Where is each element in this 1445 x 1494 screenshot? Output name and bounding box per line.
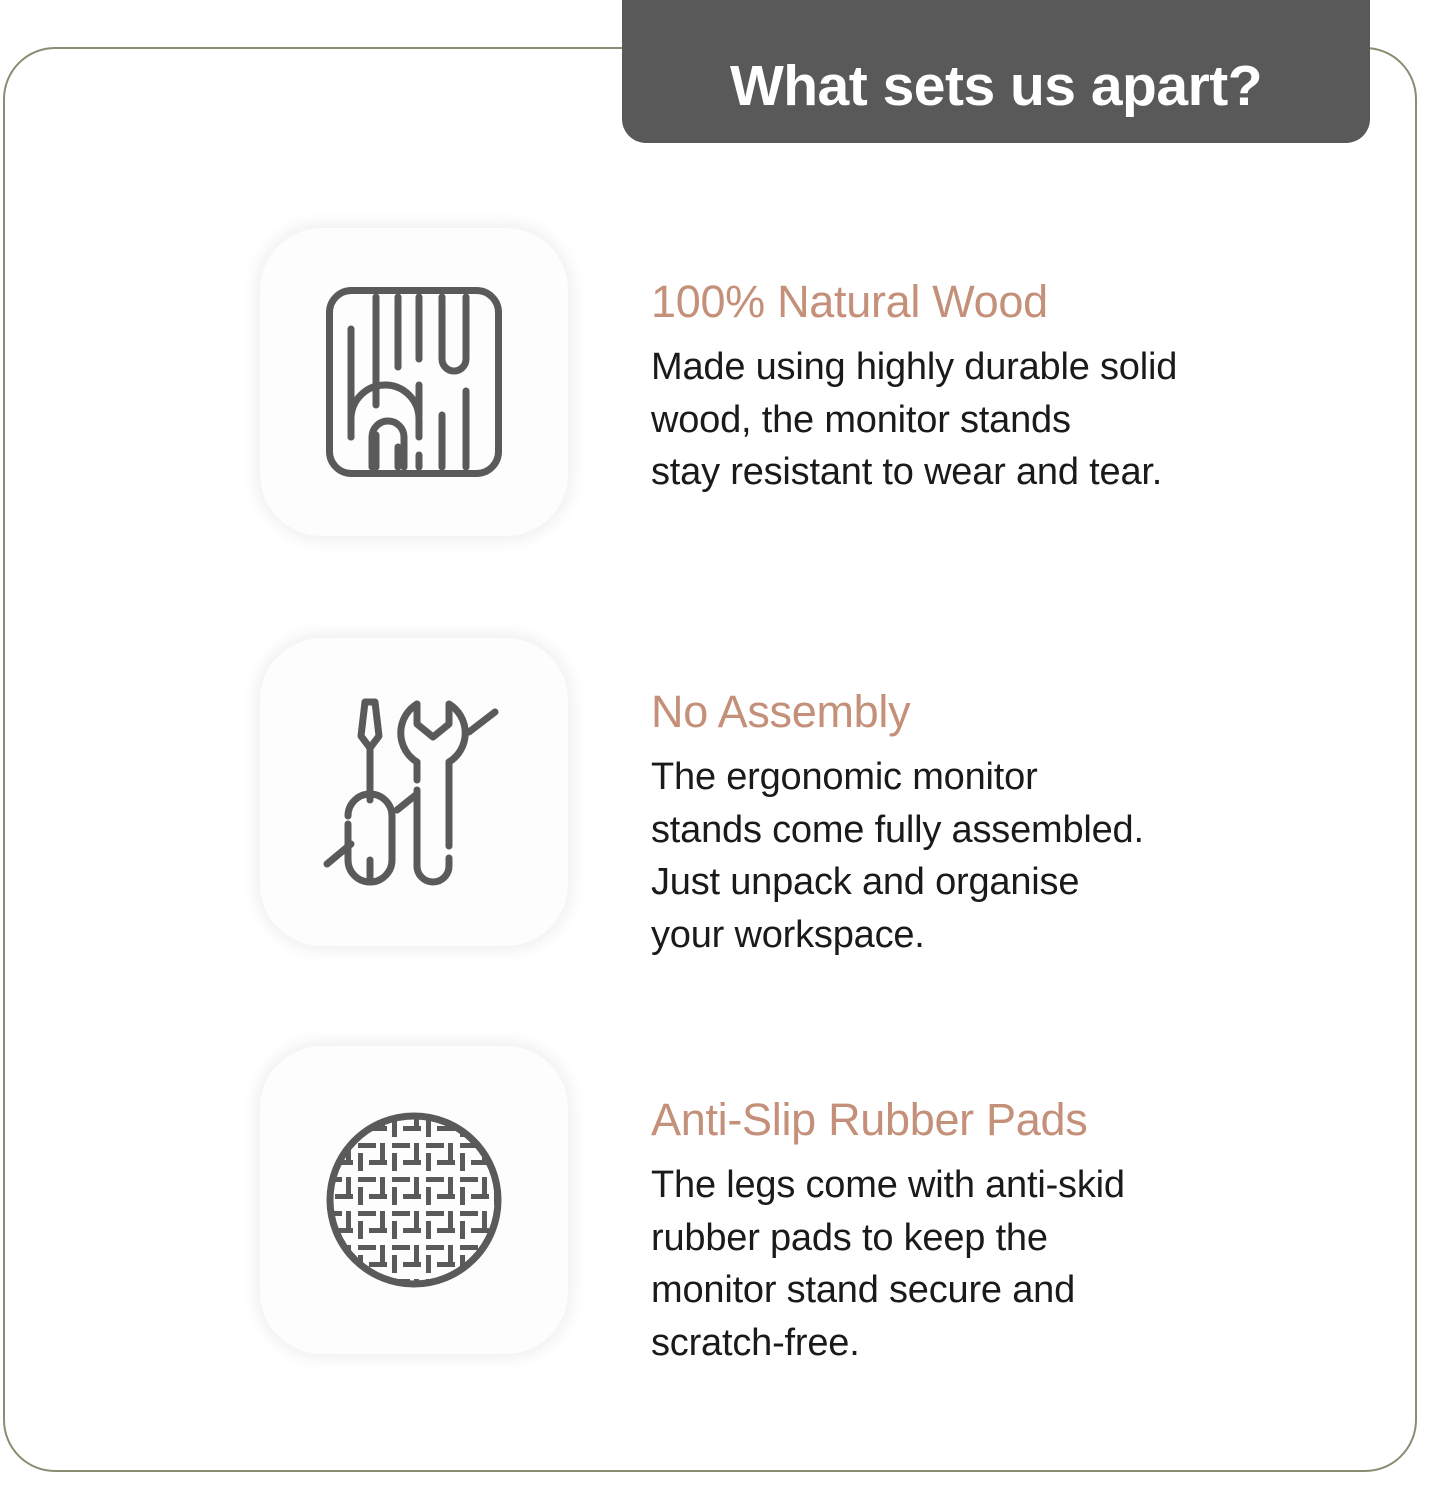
feature-heading: No Assembly [651, 688, 1351, 735]
page-title: What sets us apart? [730, 58, 1262, 115]
feature-description: The legs come with anti-skid rubber pads… [651, 1159, 1351, 1369]
feature-heading: Anti-Slip Rubber Pads [651, 1096, 1351, 1143]
screwdriver-wrench-tools-icon [321, 694, 507, 890]
wood-grain-plank-icon [326, 287, 502, 477]
feature-item: 100% Natural Wood Made using highly dura… [0, 228, 1445, 638]
feature-icon-tile [260, 228, 568, 536]
feature-item: Anti-Slip Rubber Pads The legs come with… [0, 1046, 1445, 1456]
feature-text-block: Anti-Slip Rubber Pads The legs come with… [651, 1096, 1351, 1369]
feature-icon-tile [260, 638, 568, 946]
feature-icon-tile [260, 1046, 568, 1354]
feature-description: The ergonomic monitor stands come fully … [651, 751, 1351, 961]
feature-item: No Assembly The ergonomic monitor stands… [0, 638, 1445, 1048]
feature-heading: 100% Natural Wood [651, 278, 1351, 325]
feature-text-block: No Assembly The ergonomic monitor stands… [651, 688, 1351, 961]
feature-text-block: 100% Natural Wood Made using highly dura… [651, 278, 1351, 499]
header-banner: What sets us apart? [622, 0, 1370, 143]
rubber-pad-texture-circle-icon [321, 1107, 507, 1293]
feature-description: Made using highly durable solid wood, th… [651, 341, 1351, 498]
